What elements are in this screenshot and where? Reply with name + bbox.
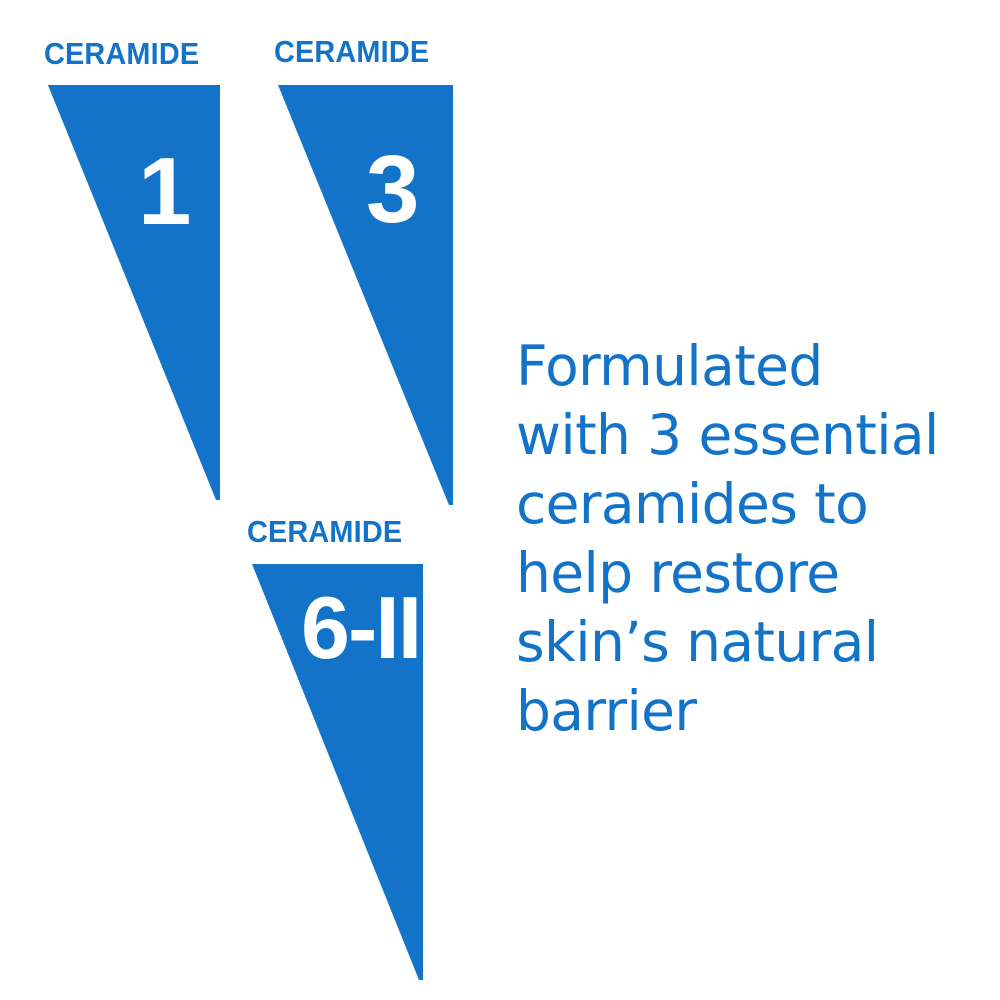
ceramide-badge-2: CERAMIDE 3 [274, 36, 460, 506]
ceramide-badge-3-label: CERAMIDE [247, 516, 402, 547]
benefit-copy-line: skin’s natural [516, 608, 956, 677]
ceramide-wedge-icon [44, 85, 230, 500]
benefit-copy-line: ceramides to [516, 470, 956, 539]
ceramide-benefit-panel: CERAMIDE 1 CERAMIDE 3 CERAMIDE 6-II Fo [0, 0, 1000, 1000]
ceramide-badge-1-number: 1 [138, 144, 191, 240]
benefit-copy-line: barrier [516, 677, 956, 746]
ceramide-badge-1: CERAMIDE 1 [44, 38, 230, 500]
ceramide-badge-1-label: CERAMIDE [44, 38, 199, 69]
ceramide-badge-2-number: 3 [366, 142, 419, 238]
ceramide-badge-3-number: 6-II [301, 584, 420, 672]
benefit-copy-line: Formulated [516, 332, 956, 401]
benefit-copy-line: help restore [516, 539, 956, 608]
ceramide-badge-3: CERAMIDE 6-II [247, 516, 433, 978]
benefit-copy-line: with 3 essential [516, 401, 956, 470]
ceramide-badge-2-label: CERAMIDE [274, 36, 429, 67]
benefit-copy-block: Formulated with 3 essential ceramides to… [516, 332, 956, 746]
